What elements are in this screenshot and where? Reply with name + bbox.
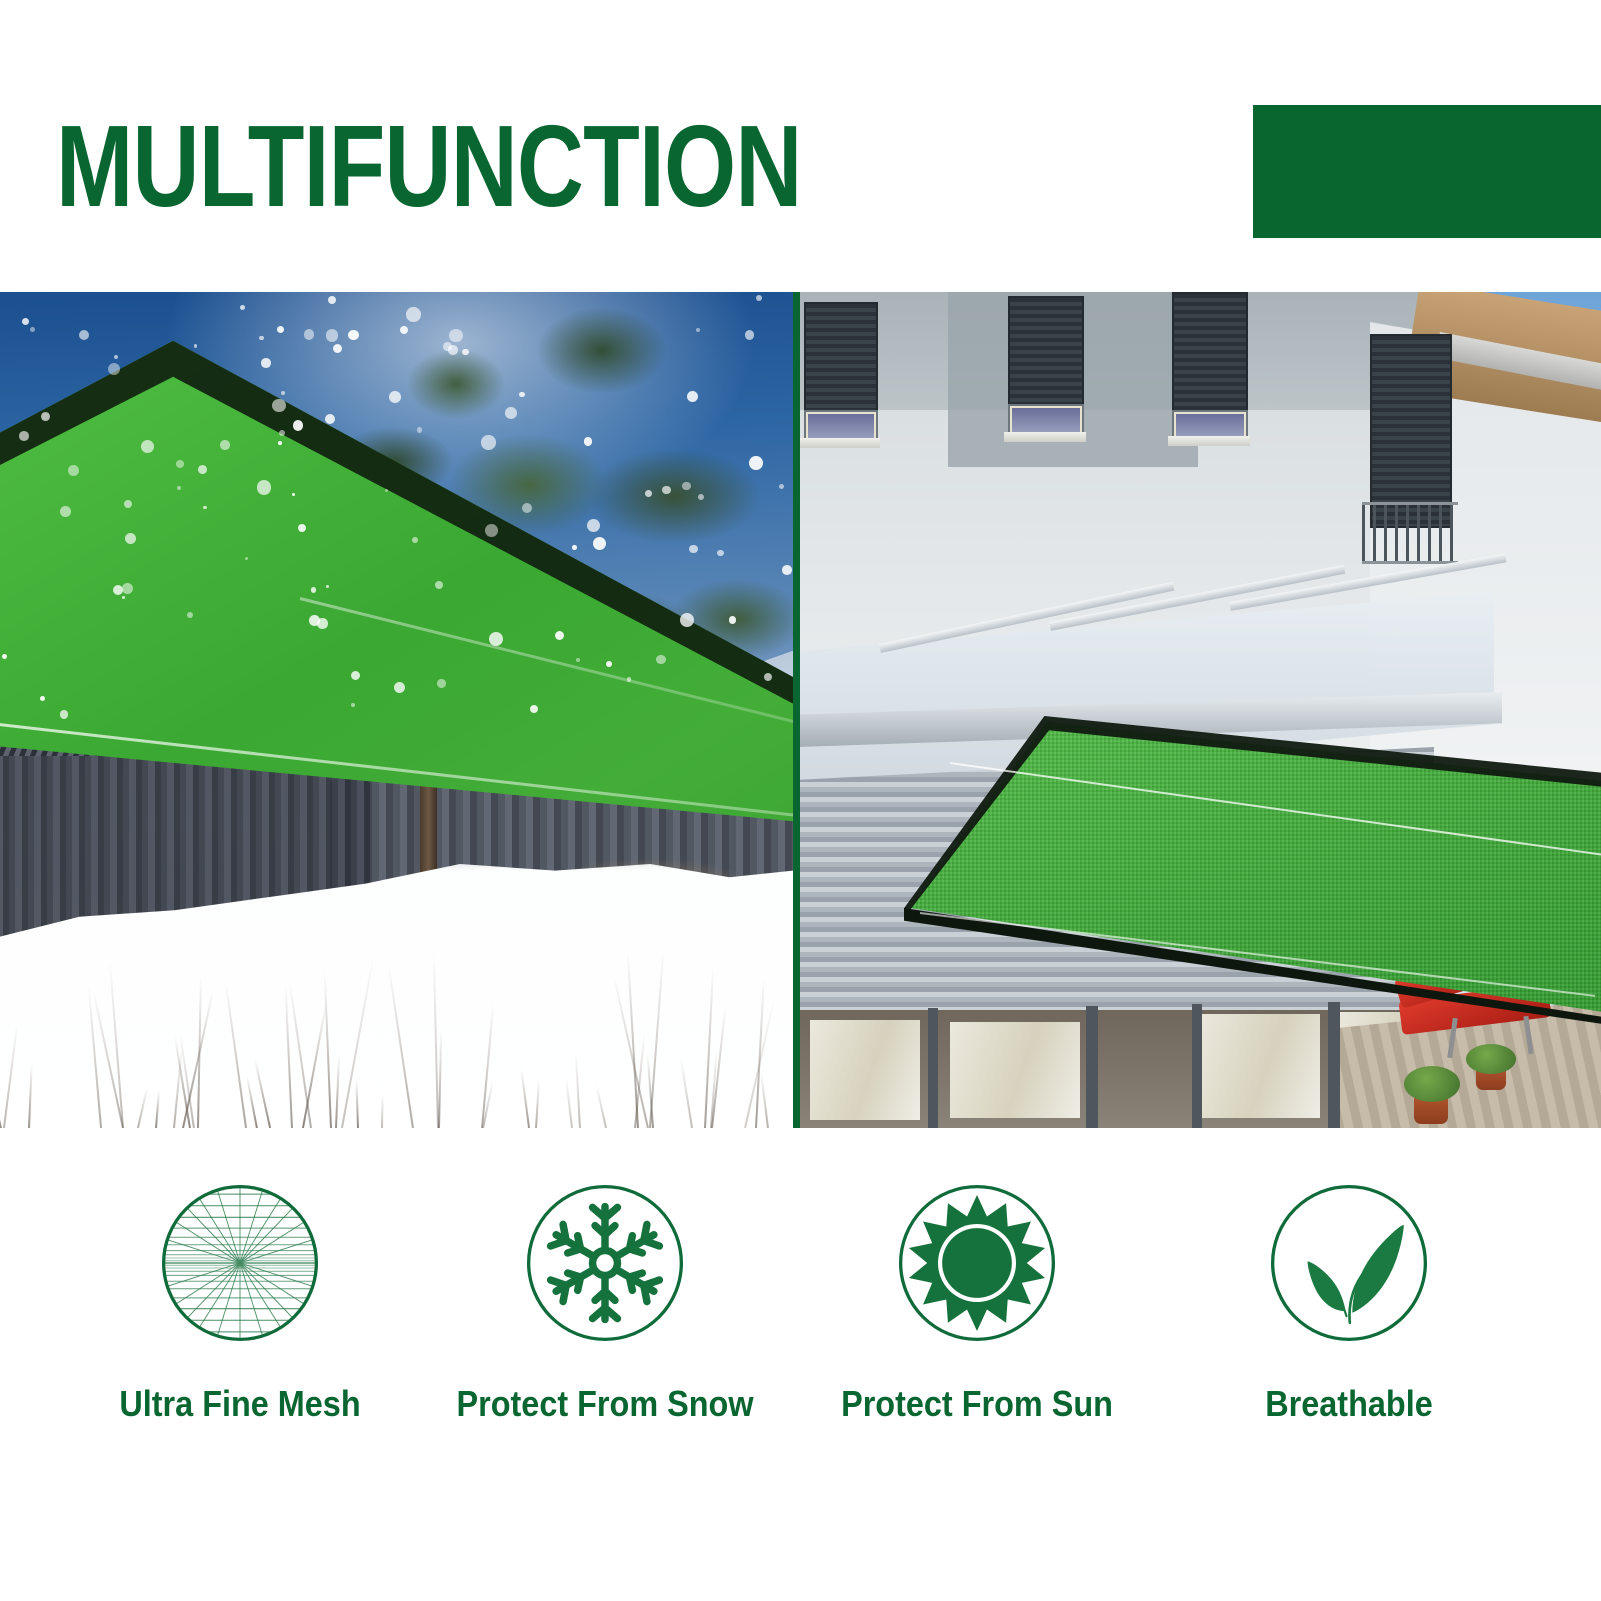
feature-protect-from-sun[interactable]: Protect From Sun <box>812 1180 1142 1424</box>
twig <box>92 988 124 1128</box>
feature-breathable[interactable]: Breathable <box>1184 1180 1514 1424</box>
summer-awning-photo <box>800 292 1601 1128</box>
photo-band <box>0 292 1601 1128</box>
window-mullion <box>1328 1002 1340 1128</box>
twig <box>137 1087 148 1128</box>
feature-label: Protect From Snow <box>457 1384 754 1424</box>
twig <box>575 1053 581 1128</box>
twig <box>302 1003 327 1128</box>
window-sill <box>1168 436 1250 446</box>
potted-plant <box>1466 1044 1516 1074</box>
twig <box>0 1080 2 1128</box>
twig <box>323 971 331 1128</box>
twig <box>155 1090 160 1128</box>
photo-divider <box>793 292 800 1128</box>
twig <box>335 1055 340 1128</box>
window-sill <box>1004 432 1086 442</box>
curtain <box>950 1022 1080 1118</box>
feature-ultra-fine-mesh[interactable]: Ultra Fine Mesh <box>75 1180 405 1424</box>
window-mullion <box>1192 1004 1202 1128</box>
header: MULTIFUNCTION <box>0 0 1601 292</box>
bare-twigs <box>0 898 793 1128</box>
twig <box>225 980 247 1128</box>
feature-label: Breathable <box>1201 1384 1498 1424</box>
twig <box>3 1023 18 1128</box>
window-sill <box>800 438 880 448</box>
twig <box>388 963 415 1128</box>
winter-shade-sail-photo <box>0 292 793 1128</box>
balcony-railing <box>1362 502 1458 564</box>
potted-plant <box>1404 1066 1460 1102</box>
twig <box>680 1056 693 1128</box>
twig <box>254 1058 271 1128</box>
curtain <box>810 1020 920 1120</box>
feature-label: Protect From Sun <box>829 1384 1126 1424</box>
feature-row: Ultra Fine Mesh <box>0 1128 1601 1601</box>
twig <box>381 1095 384 1128</box>
twig <box>246 1075 258 1128</box>
snowflake-icon <box>522 1180 688 1346</box>
twig <box>197 974 202 1128</box>
header-accent-bar <box>1253 105 1601 238</box>
roller-shutter <box>1172 292 1248 416</box>
feature-label: Ultra Fine Mesh <box>92 1384 389 1424</box>
twig <box>28 1064 33 1128</box>
twig <box>432 951 438 1128</box>
window-mullion <box>928 1008 938 1128</box>
window-mullion <box>1086 1006 1098 1128</box>
feature-protect-from-snow[interactable]: Protect From Snow <box>440 1180 770 1424</box>
twig <box>520 1069 530 1128</box>
twig <box>438 1029 442 1128</box>
twig <box>595 1085 607 1128</box>
sun-icon <box>894 1180 1060 1346</box>
roller-shutter-tall <box>1370 334 1452 528</box>
roller-shutter <box>1008 296 1084 412</box>
twig <box>355 1080 359 1128</box>
twig <box>87 986 101 1128</box>
page-title: MULTIFUNCTION <box>56 108 802 224</box>
mesh-icon <box>157 1180 323 1346</box>
roller-shutter <box>804 302 878 418</box>
product-infographic: MULTIFUNCTION <box>0 0 1601 1601</box>
leaf-icon <box>1266 1180 1432 1346</box>
twig <box>535 1080 540 1128</box>
twig <box>564 1077 572 1128</box>
curtain <box>1200 1014 1320 1118</box>
twig <box>760 1071 769 1128</box>
